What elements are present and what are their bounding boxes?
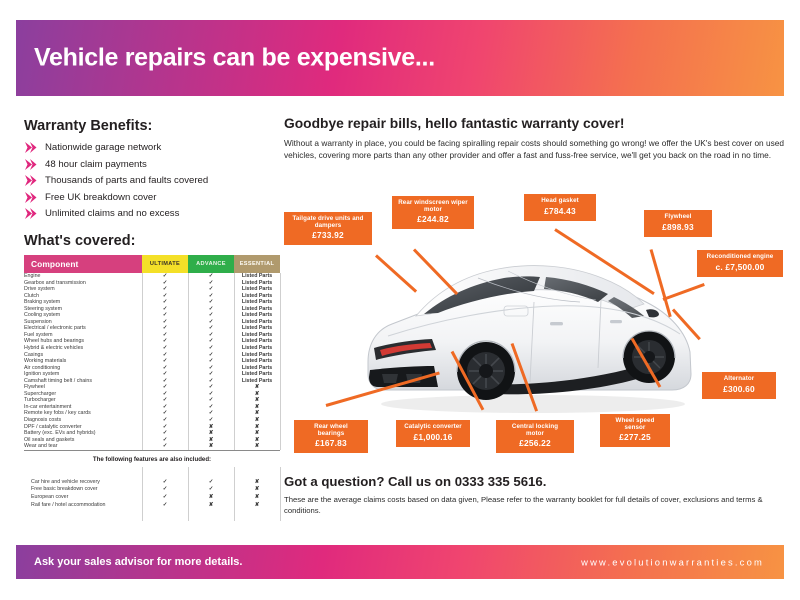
chevron-right-icon [24,175,37,186]
list-item: Free basic breakdown cover✓✓✘ [24,486,280,494]
intro-body: Without a warranty in place, you could b… [284,137,784,161]
header-banner: Vehicle repairs can be expensive... [16,20,784,96]
coverage-cell: ✓ [142,486,188,494]
callout-label: Reconditioned engine [703,254,777,261]
callout-alternator[interactable]: Alternator £300.60 [702,372,776,399]
chevron-right-icon [24,192,37,203]
coverage-cell: ✓ [142,494,188,502]
callout-price: £898.93 [650,223,706,232]
callout-price: £167.83 [300,439,362,448]
callout-price: £733.92 [290,231,366,240]
callout-price: £244.82 [398,215,468,224]
coverage-cell: ✘ [234,486,280,494]
callout-tailgate-drive-units[interactable]: Tailgate drive units and dampers £733.92 [284,212,372,245]
intro-section: Goodbye repair bills, hello fantastic wa… [284,116,784,161]
intro-title: Goodbye repair bills, hello fantastic wa… [284,116,784,131]
benefit-label: Thousands of parts and faults covered [45,175,208,186]
whats-covered-title: What's covered: [24,233,280,249]
coverage-cell: ✘ [234,502,280,510]
callout-wheel-speed-sensor[interactable]: Wheel speed sensor £277.25 [600,414,670,447]
benefit-item: Thousands of parts and faults covered [24,175,280,186]
extras-heading: The following features are also included… [24,450,280,466]
extras-table-body: Car hire and vehicle recovery✓✓✘Free bas… [24,467,280,521]
list-item: European cover✓✘✘ [24,494,280,502]
callout-price: £784.43 [530,207,590,216]
list-item: Car hire and vehicle recovery✓✓✘ [24,479,280,487]
callout-rear-windscreen-wiper-motor[interactable]: Rear windscreen wiper motor £244.82 [392,196,474,229]
coverage-cell: ✘ [188,494,234,502]
col-essential: ESSENTIAL [234,255,280,273]
vehicle-cost-diagram: Tailgate drive units and dampers £733.92… [284,192,790,470]
extra-name: European cover [24,494,142,502]
benefit-label: Free UK breakdown cover [45,192,156,203]
coverage-cell: ✓ [188,486,234,494]
spacer-row [24,467,280,479]
coverage-table: Component ULTIMATE ADVANCE ESSENTIAL Eng… [24,255,281,450]
table-header-row: Component ULTIMATE ADVANCE ESSENTIAL [24,255,280,273]
extra-name: Rail fare / hotel accommodation [24,502,142,510]
warranty-brochure-page: Vehicle repairs can be expensive... Warr… [0,0,800,600]
cta-section: Got a question? Call us on 0333 335 5616… [284,474,784,516]
callout-label: Rear windscreen wiper motor [398,200,468,213]
coverage-cell: ✓ [142,479,188,487]
benefit-item: Unlimited claims and no excess [24,208,280,219]
benefit-item: Free UK breakdown cover [24,192,280,203]
footer-message: Ask your sales advisor for more details. [34,556,242,568]
footer-website[interactable]: www.evolutionwarranties.com [581,557,764,568]
callout-price: c. £7,500.00 [703,263,777,272]
cta-title[interactable]: Got a question? Call us on 0333 335 5616… [284,474,784,489]
callout-label: Flywheel [650,214,706,221]
callout-price: £277.25 [606,433,664,442]
coverage-table-body: Engine✓✓Listed PartsGearbox and transmis… [24,273,280,450]
callout-label: Head gasket [530,198,590,205]
callout-central-locking-motor[interactable]: Central locking motor £256.22 [496,420,574,453]
benefit-label: 48 hour claim payments [45,159,147,170]
callout-label: Tailgate drive units and dampers [290,216,366,229]
chevron-right-icon [24,208,37,219]
page-title: Vehicle repairs can be expensive... [34,44,435,73]
col-advance: ADVANCE [188,255,234,273]
coverage-cell: ✘ [234,494,280,502]
chevron-right-icon [24,142,37,153]
callout-price: £300.60 [708,385,770,394]
extra-name: Car hire and vehicle recovery [24,479,142,487]
chevron-right-icon [24,159,37,170]
col-ultimate: ULTIMATE [142,255,188,273]
benefits-list: Nationwide garage network48 hour claim p… [24,142,280,219]
callout-label: Central locking motor [502,424,568,437]
callout-rear-wheel-bearings[interactable]: Rear wheel bearings £167.83 [294,420,368,453]
callout-catalytic-converter[interactable]: Catalytic converter £1,000.16 [396,420,470,447]
cta-disclaimer: These are the average claims costs based… [284,494,784,516]
warranty-benefits-title: Warranty Benefits: [24,118,280,134]
callout-head-gasket[interactable]: Head gasket £784.43 [524,194,596,221]
callout-label: Wheel speed sensor [606,418,664,431]
left-column: Warranty Benefits: Nationwide garage net… [24,118,280,521]
spacer-row [24,509,280,521]
coverage-cell: ✘ [234,479,280,487]
callout-price: £1,000.16 [402,433,464,442]
callout-label: Catalytic converter [402,424,464,431]
coverage-cell: ✓ [142,502,188,510]
callout-price: £256.22 [502,439,568,448]
benefit-label: Unlimited claims and no excess [45,208,179,219]
coverage-cell: ✓ [188,479,234,487]
callout-label: Alternator [708,376,770,383]
list-item: Rail fare / hotel accommodation✓✘✘ [24,502,280,510]
footer-banner: Ask your sales advisor for more details.… [16,545,784,579]
extras-table: Car hire and vehicle recovery✓✓✘Free bas… [24,467,281,521]
coverage-table-header: Component ULTIMATE ADVANCE ESSENTIAL [24,255,280,273]
callout-reconditioned-engine[interactable]: Reconditioned engine c. £7,500.00 [697,250,783,277]
extra-name: Free basic breakdown cover [24,486,142,494]
callout-flywheel[interactable]: Flywheel £898.93 [644,210,712,237]
benefit-item: 48 hour claim payments [24,159,280,170]
callout-label: Rear wheel bearings [300,424,362,437]
benefit-item: Nationwide garage network [24,142,280,153]
col-component: Component [24,255,142,273]
benefit-label: Nationwide garage network [45,142,161,153]
coverage-cell: ✘ [188,502,234,510]
